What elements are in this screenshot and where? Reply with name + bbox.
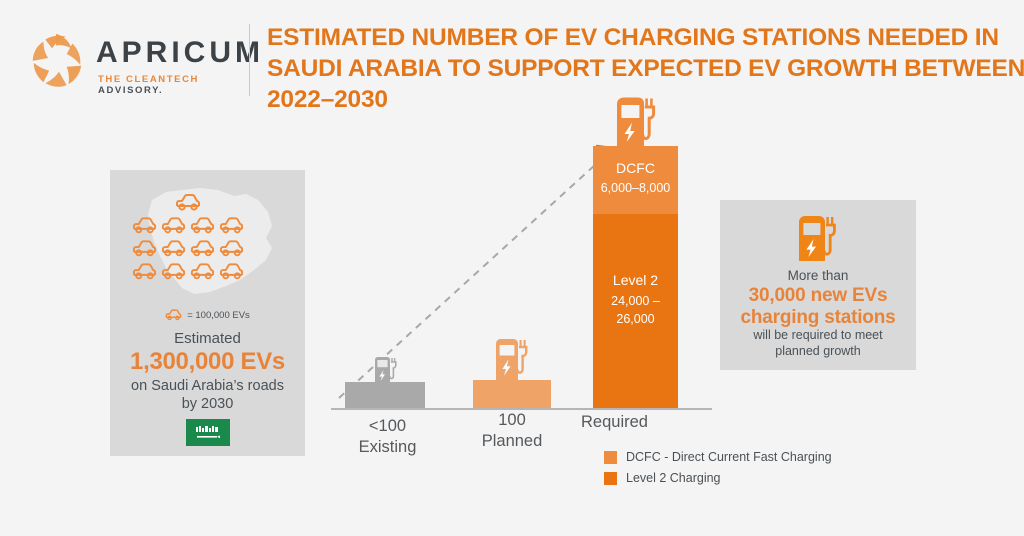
estimated-sub-line-1: on Saudi Arabia’s roads (110, 378, 305, 394)
logo-tagline: THE CLEANTECH ADVISORY. (98, 74, 241, 96)
segment-level2-name: Level 2 (593, 272, 678, 288)
legend-swatch-dcfc (604, 451, 617, 464)
ev-car-icon (132, 215, 157, 236)
xlabel-required-line-1: Required (581, 412, 711, 433)
ev-stock-panel: = 100,000 EVs Estimated 1,300,000 EVs on… (110, 170, 305, 456)
ev-car-icon (132, 261, 157, 282)
xlabel-planned: 100 Planned (447, 410, 577, 452)
ev-car-icon (132, 238, 157, 259)
apricum-swirl-logo-icon (26, 30, 86, 88)
ev-car-icon (219, 215, 244, 236)
legend-item-level2[interactable]: Level 2 Charging (604, 471, 934, 485)
car-row (132, 192, 244, 215)
logo-tagline-cleantech: THE CLEANTECH (98, 74, 199, 85)
logo-tagline-advisory: ADVISORY. (98, 85, 163, 96)
bar-planned-fill (473, 380, 551, 408)
callout-headline-line-2: charging stations (720, 307, 916, 329)
apricum-logo: APRICUM THE CLEANTECH ADVISORY. (26, 28, 241, 90)
ev-car-icon (165, 308, 182, 322)
estimated-label: Estimated (110, 330, 305, 347)
page-title-line-2: SAUDI ARABIA TO SUPPORT EXPECTED EV GROW… (267, 54, 997, 85)
callout-tail: will be required to meet planned growth (720, 327, 916, 360)
ev-car-icon (190, 238, 215, 259)
ev-car-icon (219, 261, 244, 282)
required-stations-callout: More than 30,000 new EVs charging statio… (720, 200, 916, 370)
car-row (132, 215, 244, 238)
xlabel-existing-line-2: Existing (325, 437, 450, 458)
saudi-arabia-flag-icon (186, 419, 230, 446)
callout-tail-line-1: will be required to meet (720, 327, 916, 343)
callout-headline: 30,000 new EVs charging stations (720, 285, 916, 329)
segment-level2-value-line-1: 24,000 – (593, 294, 678, 310)
xlabel-planned-line-2: Planned (447, 431, 577, 452)
legend-item-dcfc[interactable]: DCFC - Direct Current Fast Charging (604, 450, 934, 464)
ev-car-icon (161, 215, 186, 236)
car-row (132, 261, 244, 284)
ev-car-icon (175, 192, 201, 213)
xlabel-existing: <100 Existing (325, 416, 450, 458)
segment-level2-value-line-2: 26,000 (593, 312, 678, 328)
page-title-line-1: ESTIMATED NUMBER OF EV CHARGING STATIONS… (267, 23, 997, 54)
ev-car-icon (190, 261, 215, 282)
estimated-sub-line-2: by 2030 (110, 396, 305, 412)
segment-dcfc-name: DCFC (593, 160, 678, 176)
charging-stations-bar-chart: DCFC 6,000–8,000 Level 2 24,000 – 26,000… (325, 140, 725, 430)
logo-wordmark: APRICUM (96, 36, 264, 70)
charging-station-icon (796, 213, 840, 265)
segment-dcfc-value: 6,000–8,000 (593, 181, 678, 197)
unit-legend-label: = 100,000 EVs (187, 310, 250, 321)
callout-more-than: More than (720, 268, 916, 283)
callout-headline-line-1: 30,000 new EVs (720, 285, 916, 307)
xlabel-planned-line-1: 100 (447, 410, 577, 431)
legend-swatch-level2 (604, 472, 617, 485)
bar-existing-fill (345, 382, 425, 408)
chart-legend: DCFC - Direct Current Fast Charging Leve… (604, 450, 934, 492)
ev-car-icon (190, 215, 215, 236)
ev-car-icon (219, 238, 244, 259)
bar-segment-level2[interactable]: Level 2 24,000 – 26,000 (593, 214, 678, 408)
ev-car-pictogram-grid (132, 192, 244, 284)
ev-car-icon (161, 261, 186, 282)
unit-legend: = 100,000 EVs (110, 308, 305, 322)
charging-station-icon (613, 94, 659, 152)
xlabel-existing-line-1: <100 (325, 416, 450, 437)
legend-label-level2: Level 2 Charging (626, 471, 721, 485)
header-divider (249, 24, 250, 96)
estimated-ev-value: 1,300,000 EVs (110, 348, 305, 376)
xlabel-required: Required (581, 412, 711, 433)
legend-label-dcfc: DCFC - Direct Current Fast Charging (626, 450, 832, 464)
callout-tail-line-2: planned growth (720, 343, 916, 359)
header: APRICUM THE CLEANTECH ADVISORY. ESTIMATE… (0, 0, 1024, 120)
car-row (132, 238, 244, 261)
bar-segment-dcfc[interactable]: DCFC 6,000–8,000 (593, 146, 678, 214)
ev-car-icon (161, 238, 186, 259)
charging-station-icon (493, 336, 531, 384)
